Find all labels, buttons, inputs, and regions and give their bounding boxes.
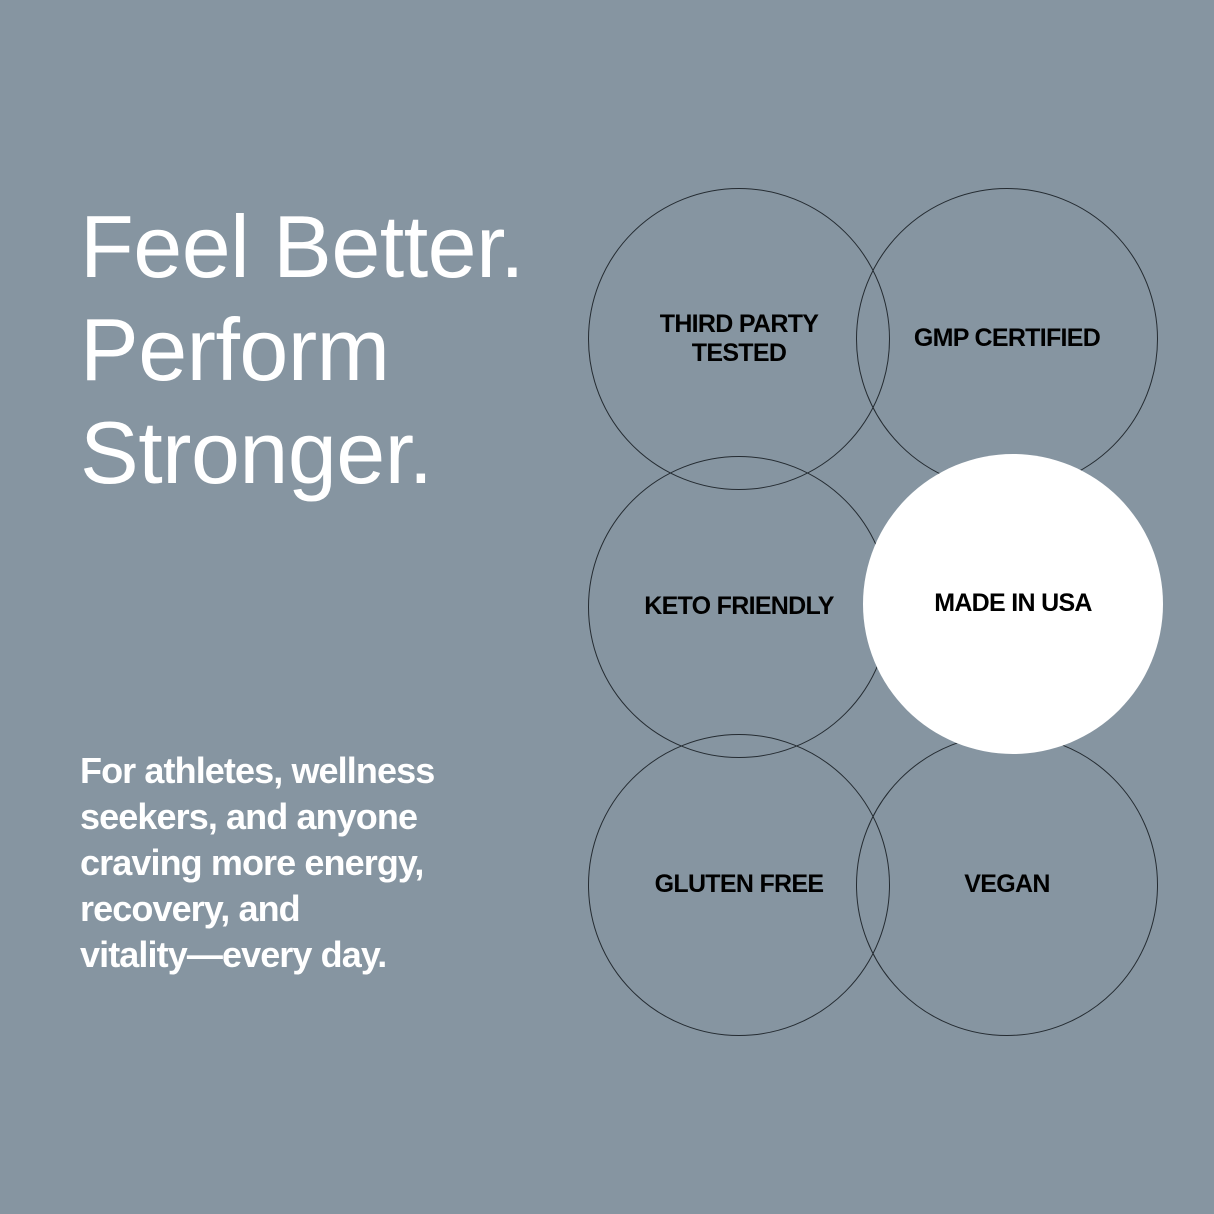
headline: Feel Better. Perform Stronger.	[80, 196, 600, 505]
badge-vegan: VEGAN	[856, 734, 1158, 1036]
copy-column: Feel Better. Perform Stronger. For athle…	[80, 0, 580, 1214]
badge-cluster: THIRD PARTY TESTED GMP CERTIFIED KETO FR…	[570, 160, 1190, 1060]
badge-third-party-tested: THIRD PARTY TESTED	[588, 188, 890, 490]
badge-made-in-usa: MADE IN USA	[863, 454, 1163, 754]
badge-label-gluten-free: GLUTEN FREE	[655, 870, 824, 900]
badge-keto-friendly: KETO FRIENDLY	[588, 456, 890, 758]
badge-label-third-party-tested: THIRD PARTY TESTED	[660, 310, 819, 369]
badge-label-vegan: VEGAN	[964, 870, 1049, 900]
badge-label-made-in-usa: MADE IN USA	[934, 589, 1092, 619]
badge-gmp-certified: GMP CERTIFIED	[856, 188, 1158, 490]
badge-label-gmp-certified: GMP CERTIFIED	[914, 324, 1100, 354]
subcopy-paragraph: For athletes, wellness seekers, and anyo…	[80, 748, 520, 978]
promo-poster: Feel Better. Perform Stronger. For athle…	[0, 0, 1214, 1214]
badge-label-keto-friendly: KETO FRIENDLY	[644, 592, 834, 622]
badge-gluten-free: GLUTEN FREE	[588, 734, 890, 1036]
